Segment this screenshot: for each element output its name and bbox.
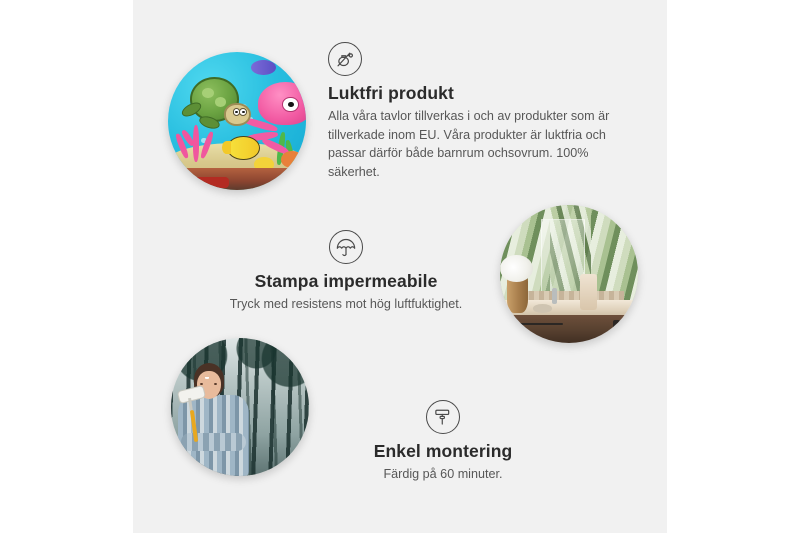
medallion-woman-paint-roller-forest-photo[interactable]: Leende kvinna i rutig skjorta som håller… [171,338,309,476]
white-flowers-icon [500,255,533,283]
woman-figure [177,363,254,476]
feature-body: Alla våra tavlor tillverkas i och av pro… [328,107,628,182]
wooden-vanity-cabinet [508,315,638,343]
sea-bottom-strip [168,168,306,190]
feature-title: Stampa impermeabile [196,271,496,292]
bathroom-scene [500,205,638,343]
no-scent-perfume-bottle-icon [328,42,362,76]
medallion-bathroom-tropical-wallpaper-photo[interactable]: Badrum med grön tropisk bladtapet, träva… [500,205,638,343]
feature-body: Färdig på 60 minuter. [318,465,568,484]
feature-luktfri-produkt: Luktfri produkt Alla våra tavlor tillver… [328,42,628,182]
feature-stampa-impermeabile: Stampa impermeabile Tryck med resistens … [196,230,496,314]
feature-title: Enkel montering [318,441,568,462]
orange-fish-icon [281,151,303,168]
paint-roller-icon [426,400,460,434]
bathroom-mirror [541,219,584,293]
umbrella-icon [329,230,363,264]
soap-dispenser-icon [580,274,597,310]
sea-turtle-icon [185,74,248,129]
feature-panel: Tecknad undervattensscen med grön sköldp… [133,0,667,533]
faucet-icon [552,288,556,305]
forest-wallpaper-scene [171,338,309,476]
screenshot-canvas: Tecknad undervattensscen med grön sköldp… [0,0,800,533]
medallion-underwater-kids-illustration[interactable]: Tecknad undervattensscen med grön sköldp… [168,52,306,190]
yellow-fish-icon [227,136,259,160]
feature-title: Luktfri produkt [328,83,628,104]
crossed-arms [181,433,246,451]
feature-enkel-montering: Enkel montering Färdig på 60 minuter. [318,400,568,484]
soap-dish-icon [533,304,552,312]
underwater-scene [168,52,306,190]
smile [205,377,209,379]
feature-body: Tryck med resistens mot hög luftfuktighe… [196,295,496,314]
